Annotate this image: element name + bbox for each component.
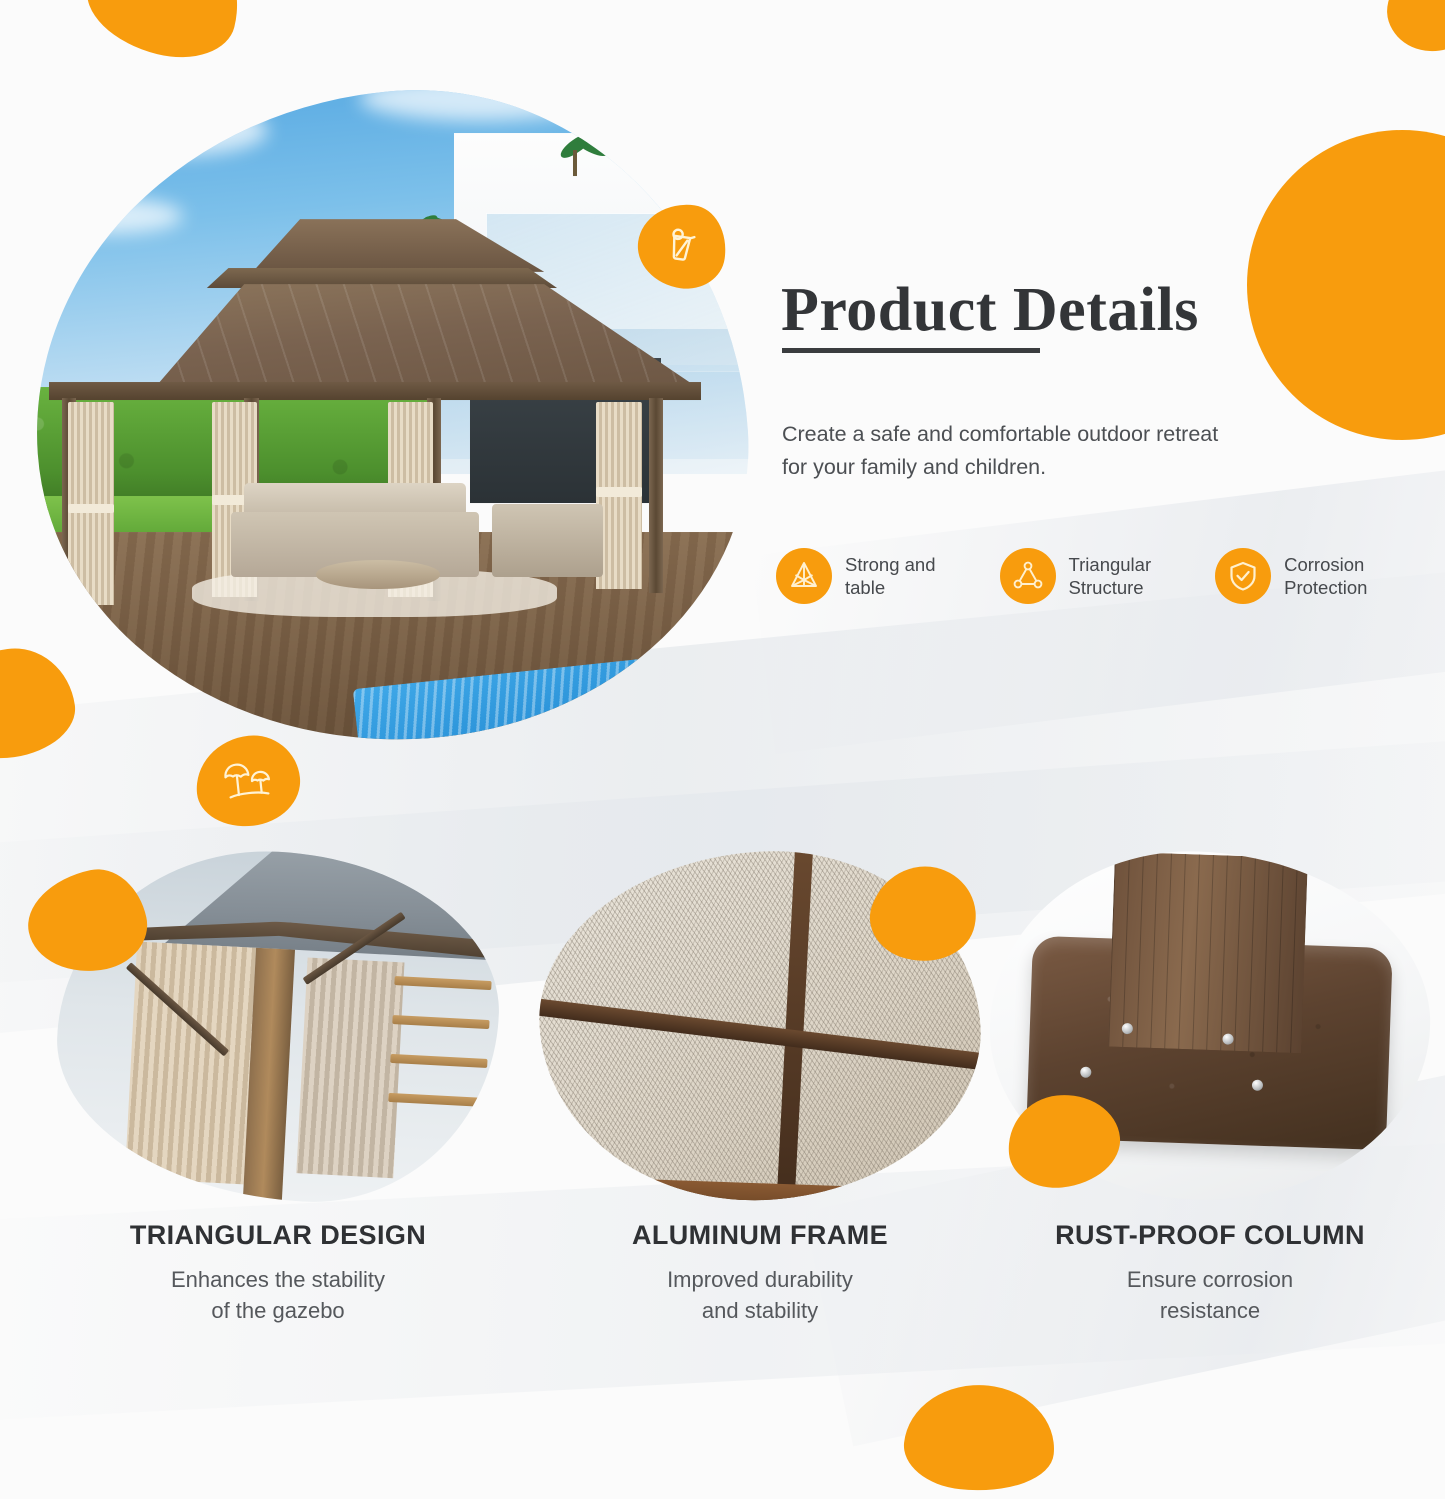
- detail-title: RUST-PROOF COLUMN: [990, 1220, 1430, 1251]
- detail-photo-aluminum-frame: [540, 852, 980, 1200]
- page-subtitle: Create a safe and comfortable outdoor re…: [782, 418, 1222, 483]
- triangle-node-structure-icon: [1000, 548, 1056, 604]
- detail-subtitle: Enhances the stability of the gazebo: [58, 1264, 498, 1326]
- decorative-blob-top-right: [1374, 0, 1445, 64]
- detail-title: TRIANGULAR DESIGN: [58, 1220, 498, 1251]
- shield-check-icon: [1215, 548, 1271, 604]
- hero-gazebo: [49, 227, 701, 633]
- feature-label: Corrosion Protection: [1284, 553, 1367, 600]
- detail-subtitle: Improved durability and stability: [540, 1264, 980, 1326]
- feature-item-corrosion-protection: Corrosion Protection: [1215, 548, 1367, 604]
- decorative-circle-right: [1247, 130, 1445, 440]
- feature-list: Strong and table Triangular Structure Co…: [776, 548, 1367, 604]
- feature-item-triangular-structure: Triangular Structure: [1000, 548, 1152, 604]
- pyramid-icon: [776, 548, 832, 604]
- feature-item-strong-and-table: Strong and table: [776, 548, 936, 604]
- detail-subtitle: Ensure corrosion resistance: [990, 1264, 1430, 1326]
- detail-card: RUST-PROOF COLUMN Ensure corrosion resis…: [990, 852, 1430, 1200]
- decorative-blob-top-left: [76, 0, 252, 71]
- detail-caption: ALUMINUM FRAME Improved durability and s…: [540, 1220, 980, 1326]
- detail-photo-rust-proof-column: [990, 852, 1430, 1200]
- detail-caption: TRIANGULAR DESIGN Enhances the stability…: [58, 1220, 498, 1326]
- hero-image: [36, 92, 746, 740]
- feature-label: Strong and table: [845, 553, 936, 600]
- detail-caption: RUST-PROOF COLUMN Ensure corrosion resis…: [990, 1220, 1430, 1326]
- feature-label: Triangular Structure: [1069, 553, 1152, 600]
- detail-card: ALUMINUM FRAME Improved durability and s…: [540, 852, 980, 1200]
- detail-photo-triangular-design: [58, 852, 498, 1200]
- title-underline: [782, 348, 1040, 353]
- page-title: Product Details: [781, 275, 1199, 346]
- detail-card: TRIANGULAR DESIGN Enhances the stability…: [58, 852, 498, 1200]
- detail-title: ALUMINUM FRAME: [540, 1220, 980, 1251]
- decorative-blob-bottom: [900, 1377, 1060, 1498]
